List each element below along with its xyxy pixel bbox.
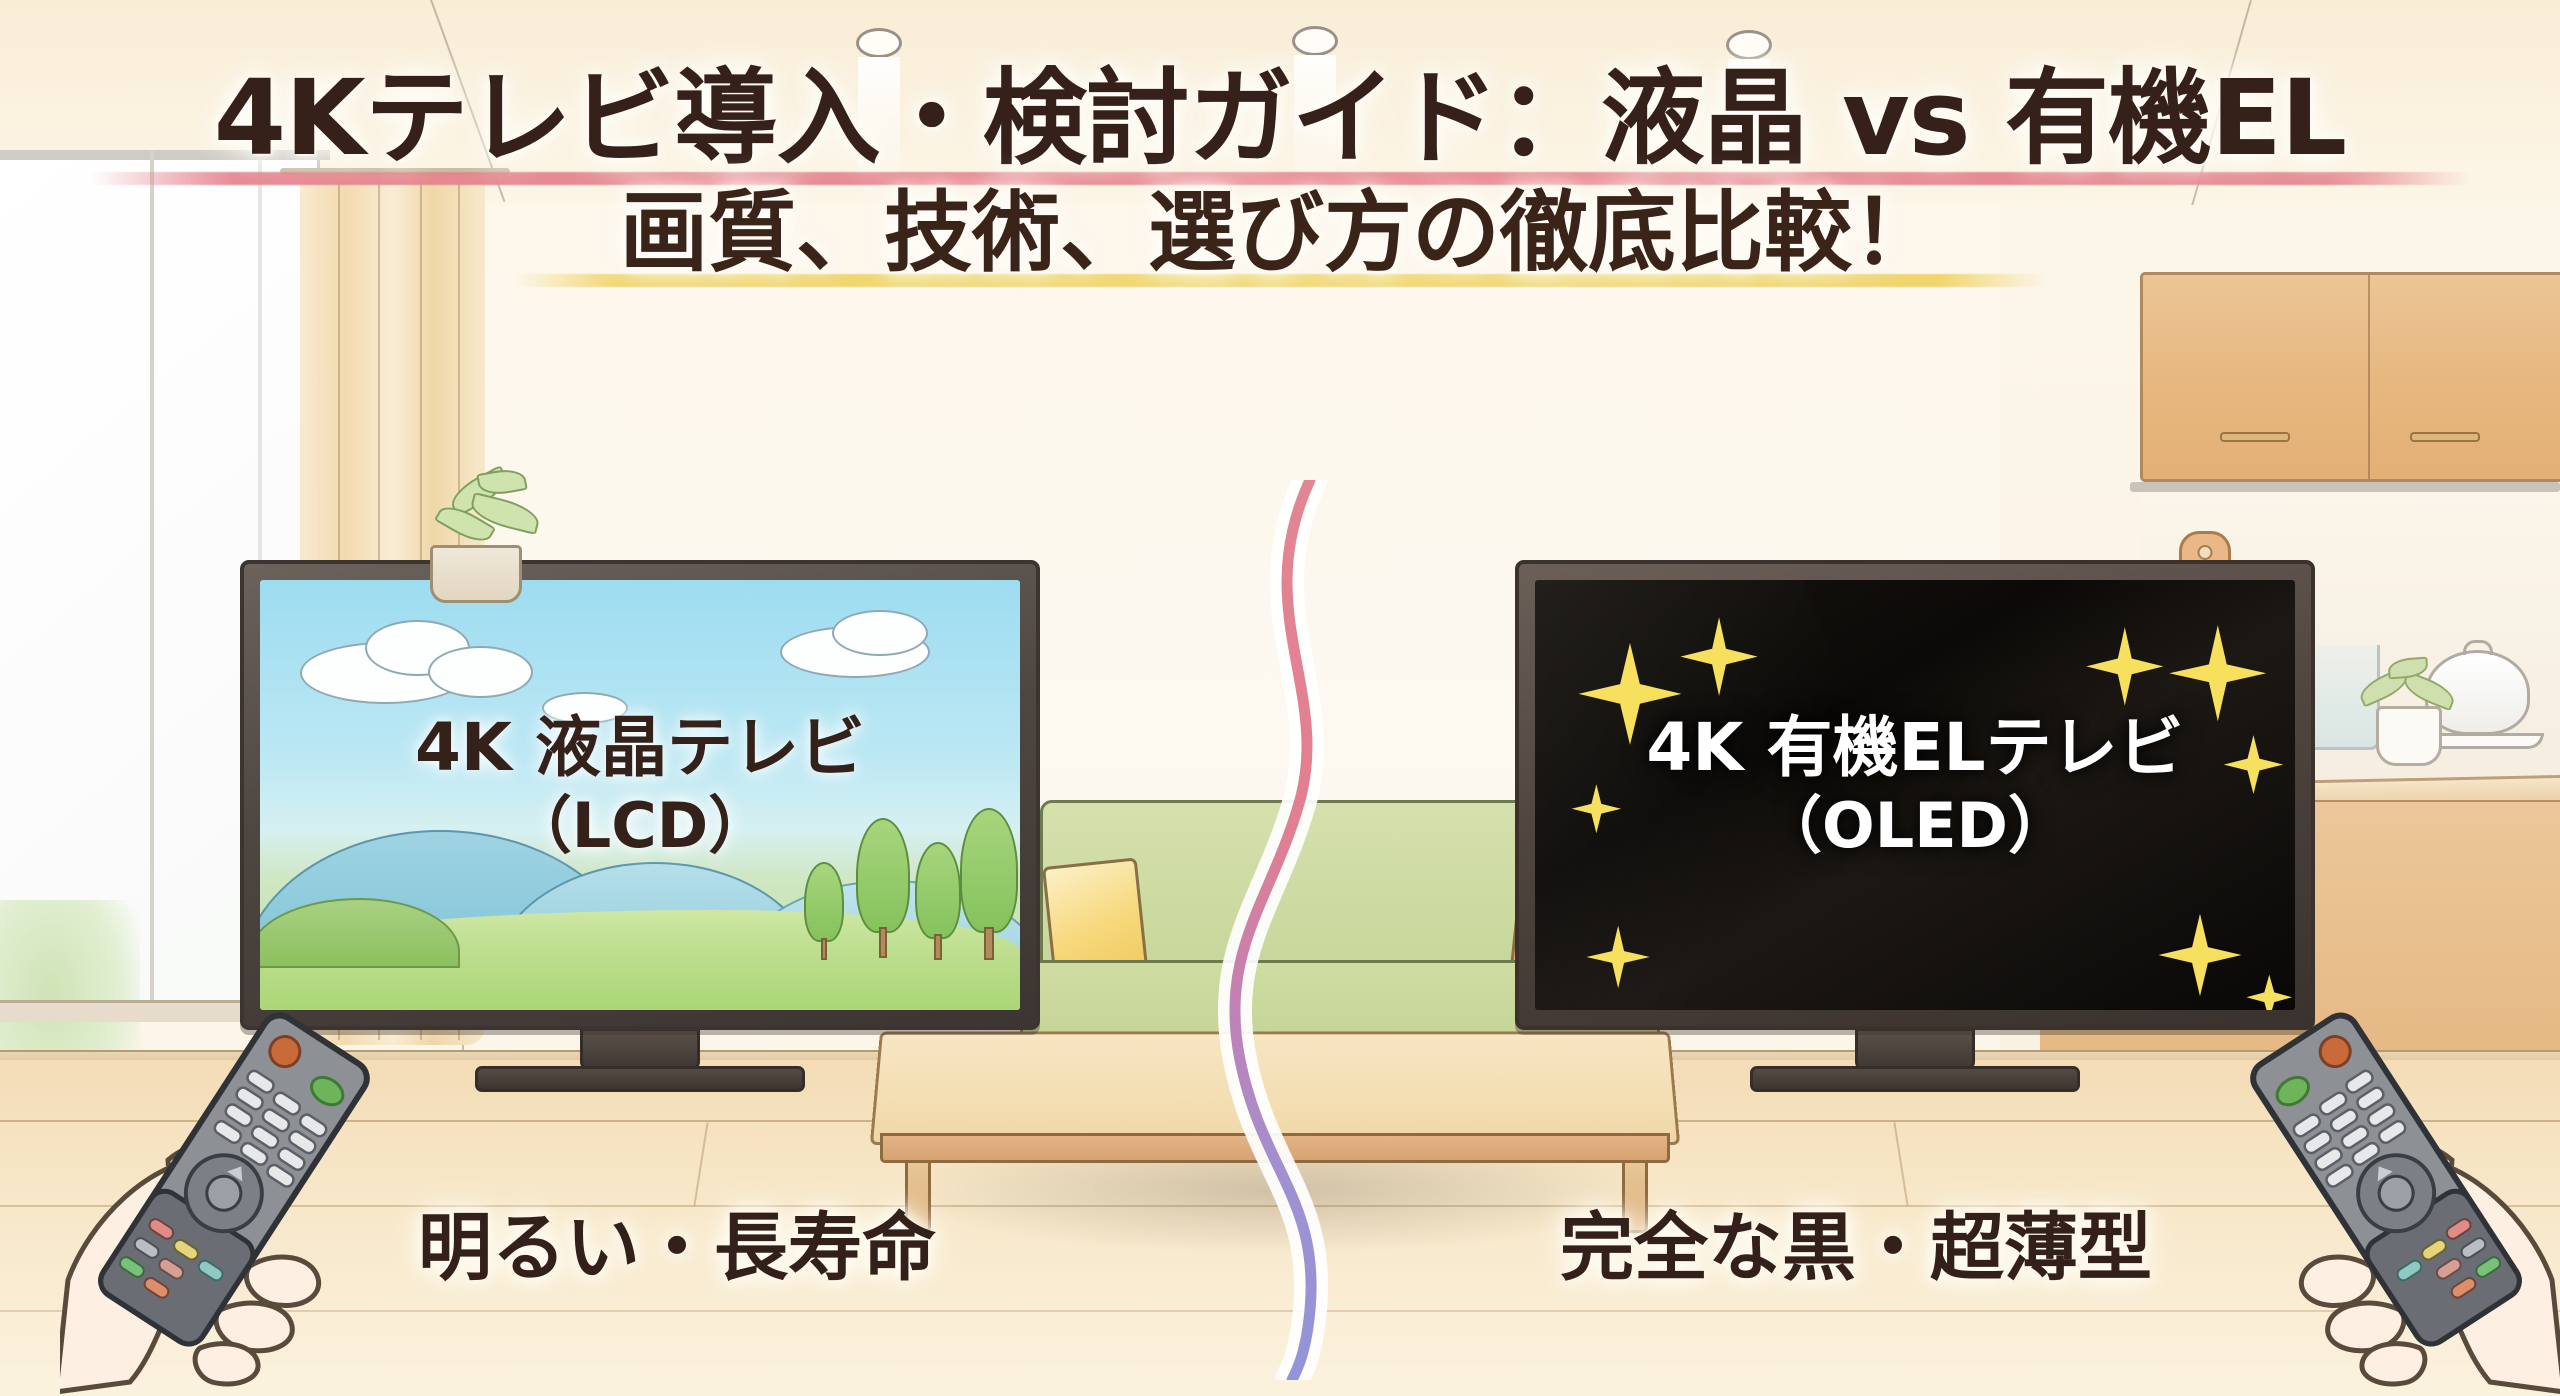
kitchen-upper-cabinet [2140,272,2560,482]
page-subtitle: 画質、技術、選び方の徹底比較！ [608,184,1952,283]
tv-bezel: 4K 有機ELテレビ （OLED） [1515,560,2315,1030]
downlight-icon [856,28,902,58]
finger [2301,1257,2373,1306]
tv-screen-lcd: 4K 液晶テレビ （LCD） [260,580,1020,1010]
cabinet-divider [2368,275,2370,479]
table-shadow [905,1163,1645,1253]
counter-plant-pot [2376,706,2442,766]
tree-foliage [804,862,844,942]
downlight-icon [1292,26,1338,56]
coffee-table-edge [880,1133,1670,1163]
caption-lcd: 明るい・長寿命 [418,1188,936,1295]
coffee-table-top [870,1031,1680,1145]
sparkle-icon [2158,914,2241,996]
tree-trunk [984,927,993,960]
sparkle-icon [2086,627,2163,706]
tv-neck [580,1028,700,1070]
tree-icon [804,862,844,960]
finger [2362,1344,2425,1384]
sparkle-icon [1680,617,1757,696]
tv-screen-oled: 4K 有機ELテレビ （OLED） [1535,580,2295,1010]
oled-screen-label: 4K 有機ELテレビ （OLED） [1535,708,2295,863]
lcd-label-line2: （LCD） [260,789,1020,863]
sparkle-icon [2247,975,2293,1010]
kitchen-shelf [2130,482,2560,492]
cloud-icon [832,610,928,656]
cabinet-handle [2410,432,2480,442]
subtitle-container: 画質、技術、選び方の徹底比較！ [0,184,2560,283]
finger [195,1344,258,1384]
downlight-icon [1726,30,1772,60]
remote-control-right [2247,1010,2526,1350]
hand-with-remote-left [60,1010,460,1396]
lcd-screen-label: 4K 液晶テレビ （LCD） [260,708,1020,863]
finger [246,1257,318,1306]
tree-trunk [934,934,941,960]
title-container: 4Kテレビ導入・検討ガイド：液晶 vs 有機EL [0,62,2560,174]
tv-stand-foot [475,1066,805,1092]
infographic-canvas: 4K 液晶テレビ （LCD） [0,0,2560,1396]
tv-neck [1855,1028,1975,1070]
lcd-label-line1: 4K 液晶テレビ [260,708,1020,789]
tv-bezel: 4K 液晶テレビ （LCD） [240,560,1040,1030]
sparkle-icon [2169,625,2266,721]
tv-stand-foot [1750,1066,2080,1092]
tree-trunk [821,938,827,960]
tree-trunk [879,927,888,958]
page-title: 4Kテレビ導入・検討ガイド：液晶 vs 有機EL [200,62,2360,174]
oled-label-line1: 4K 有機ELテレビ [1535,708,2295,789]
plant-pot [430,545,522,603]
caption-oled: 完全な黒・超薄型 [1560,1188,2152,1295]
cloud-icon [428,646,533,698]
cabinet-handle [2220,432,2290,442]
sparkle-icon [1586,926,1649,989]
oled-label-line2: （OLED） [1535,789,2295,863]
hand-with-remote-right [2160,1010,2560,1396]
remote-control-left [95,1010,374,1350]
